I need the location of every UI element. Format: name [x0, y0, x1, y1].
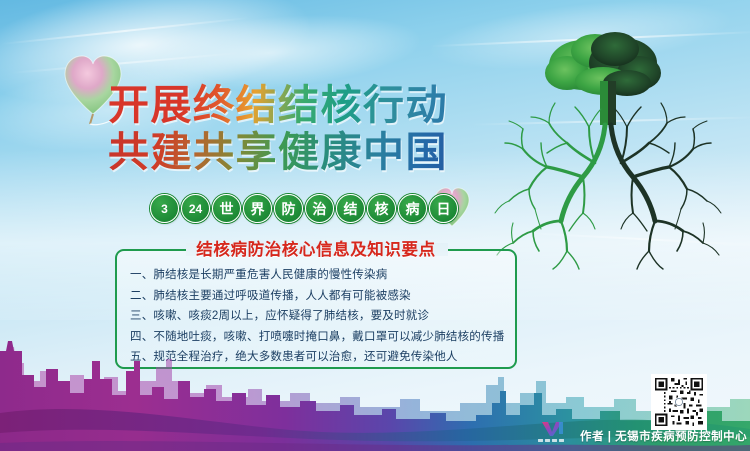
poster-headline: 开展终结结核行动 共建共享健康中国 [108, 82, 473, 180]
lung-right-dark [611, 103, 721, 269]
badge-day: 24 [181, 194, 210, 223]
panel-title: 结核病防治核心信息及知识要点 [186, 236, 445, 260]
badge-char-he: 核 [367, 194, 396, 223]
tuberculosis-awareness-poster: 开展终结结核行动 共建共享健康中国 3 24 世 界 防 治 结 核 病 日 结… [0, 0, 750, 451]
badge-char-zhi: 治 [305, 194, 334, 223]
brand-logo-icon [528, 420, 578, 444]
cloud-streak [1, 17, 250, 45]
cloud-streak [10, 52, 239, 74]
badge-char-ri: 日 [429, 194, 458, 223]
tree-trunk-left [600, 81, 608, 125]
panel-title-container: 结核病防治核心信息及知识要点 [115, 236, 517, 260]
badge-char-jie2: 结 [336, 194, 365, 223]
brand-logo-microtext [538, 439, 564, 442]
list-item: 一、肺结核是长期严重危害人民健康的慢性传染病 [130, 265, 510, 286]
tree-lungs-illustration [487, 25, 743, 275]
badge-char-bing: 病 [398, 194, 427, 223]
author-credit: 作者 | 无锡市疾病预防控制中心 [580, 428, 747, 444]
badge-char-fang: 防 [274, 194, 303, 223]
list-item: 三、咳嗽、咳痰2周以上，应怀疑得了肺结核，要及时就诊 [130, 306, 510, 327]
qr-code[interactable] [651, 374, 707, 430]
badge-char-jie: 界 [243, 194, 272, 223]
badge-month: 3 [150, 194, 179, 223]
headline-line-2: 共建共享健康中国 [108, 129, 473, 176]
world-tb-day-badge-row: 3 24 世 界 防 治 结 核 病 日 [150, 194, 458, 223]
badge-char-shi: 世 [212, 194, 241, 223]
headline-line-1: 开展终结结核行动 [108, 82, 473, 129]
list-item: 二、肺结核主要通过呼吸道传播，人人都有可能被感染 [130, 286, 510, 307]
tree-trunk-right [608, 81, 616, 125]
